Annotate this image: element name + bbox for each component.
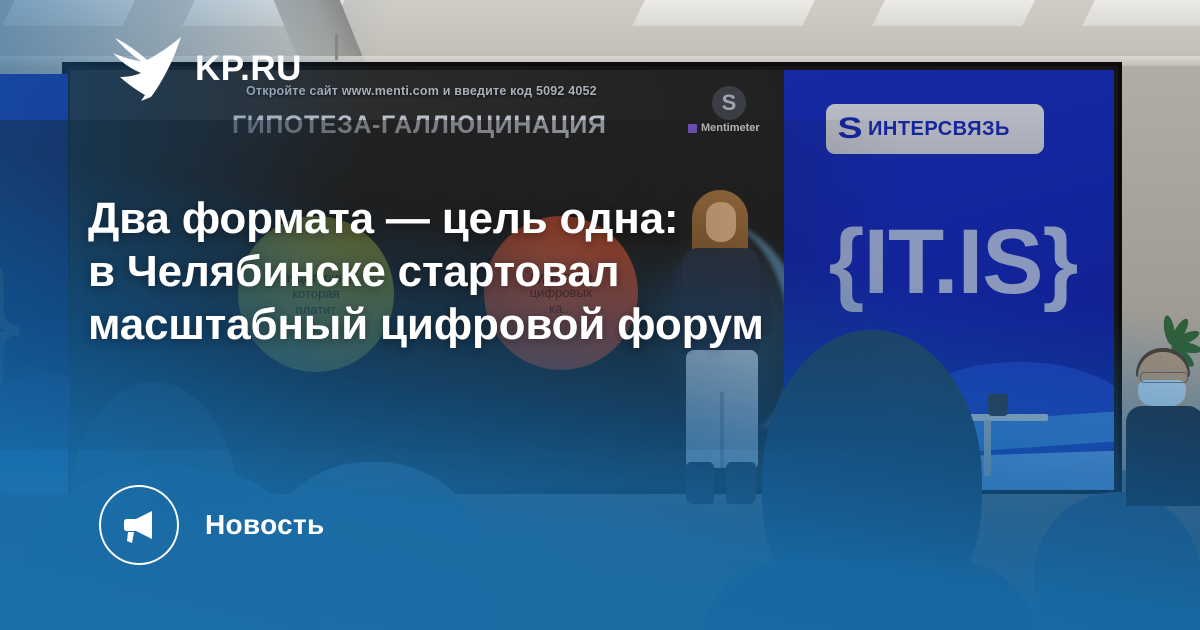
headline-line-2: в Челябинске стартовал bbox=[88, 245, 1048, 298]
headline-line-3: масштабный цифровой форум bbox=[88, 298, 1048, 351]
page-title: Два формата — цель одна: в Челябинске ст… bbox=[88, 192, 1048, 352]
headline-line-1: Два формата — цель одна: bbox=[88, 192, 1048, 245]
megaphone-icon bbox=[119, 505, 159, 545]
category-label: Новость bbox=[205, 509, 325, 541]
category-tag[interactable]: Новость bbox=[99, 485, 325, 565]
news-card: } Откройте сайт www.menti.com и введите … bbox=[0, 0, 1200, 630]
brand-wordmark: KP.RU bbox=[195, 51, 302, 86]
category-icon-circle bbox=[99, 485, 179, 565]
swallow-bird-icon bbox=[107, 35, 181, 101]
brand-logo[interactable]: KP.RU bbox=[107, 35, 302, 101]
